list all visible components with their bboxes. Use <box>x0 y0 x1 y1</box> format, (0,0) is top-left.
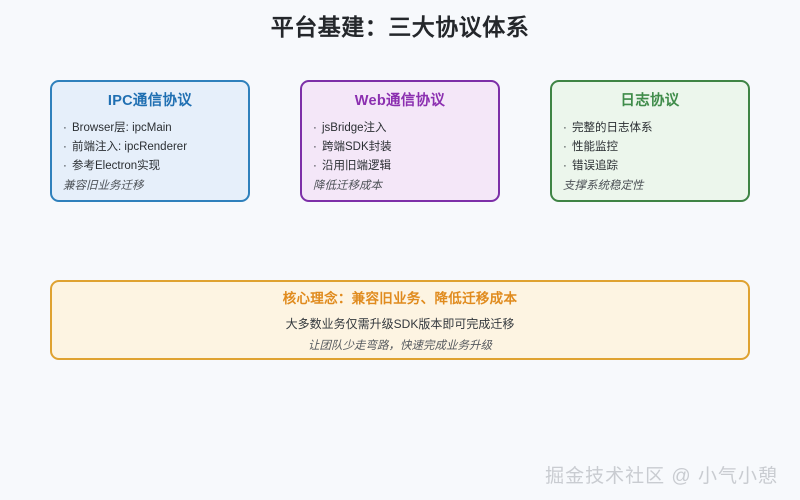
protocol-cards-row: IPC通信协议 ·Browser层: ipcMain ·前端注入: ipcRen… <box>50 80 750 202</box>
banner-body-text: 大多数业务仅需升级SDK版本即可完成迁移 <box>286 315 515 332</box>
card-title: 日志协议 <box>563 89 737 110</box>
core-concept-banner: 核心理念：兼容旧业务、降低迁移成本 大多数业务仅需升级SDK版本即可完成迁移 让… <box>50 280 750 360</box>
watermark: 掘金技术社区 @ 小气小憩 <box>545 461 778 488</box>
bullet-dot-icon: · <box>63 119 67 138</box>
bullet-dot-icon: · <box>63 157 67 176</box>
card-title: IPC通信协议 <box>63 89 237 110</box>
list-item-label: 沿用旧端逻辑 <box>322 160 391 172</box>
list-item-label: 跨端SDK封装 <box>322 141 392 153</box>
banner-heading: 核心理念：兼容旧业务、降低迁移成本 <box>283 287 518 307</box>
list-item-label: 完整的日志体系 <box>572 122 653 134</box>
list-item: ·跨端SDK封装 <box>313 138 487 157</box>
list-item: ·Browser层: ipcMain <box>63 119 237 138</box>
page-title: 平台基建：三大协议体系 <box>0 8 800 42</box>
card-note: 兼容旧业务迁移 <box>63 177 237 195</box>
list-item-label: Browser层: ipcMain <box>72 122 172 134</box>
bullet-dot-icon: · <box>313 157 317 176</box>
list-item: ·前端注入: ipcRenderer <box>63 138 237 157</box>
bullet-dot-icon: · <box>563 138 567 157</box>
list-item: ·性能监控 <box>563 138 737 157</box>
list-item-label: 前端注入: ipcRenderer <box>72 141 187 153</box>
list-item: ·沿用旧端逻辑 <box>313 157 487 176</box>
protocol-card-web: Web通信协议 ·jsBridge注入 ·跨端SDK封装 ·沿用旧端逻辑 降低迁… <box>300 80 500 202</box>
banner-sub-text: 让团队少走弯路，快速完成业务升级 <box>308 337 492 353</box>
card-title: Web通信协议 <box>313 89 487 110</box>
list-item-label: jsBridge注入 <box>322 122 387 134</box>
bullet-dot-icon: · <box>63 138 67 157</box>
list-item-label: 错误追踪 <box>572 160 618 172</box>
list-item-label: 性能监控 <box>572 141 618 153</box>
list-item-label: 参考Electron实现 <box>72 160 160 172</box>
bullet-dot-icon: · <box>313 119 317 138</box>
bullet-dot-icon: · <box>313 138 317 157</box>
list-item: ·错误追踪 <box>563 157 737 176</box>
card-bullet-list: ·jsBridge注入 ·跨端SDK封装 ·沿用旧端逻辑 <box>313 119 487 176</box>
bullet-dot-icon: · <box>563 119 567 138</box>
card-bullet-list: ·完整的日志体系 ·性能监控 ·错误追踪 <box>563 119 737 176</box>
card-note: 支撑系统稳定性 <box>563 177 737 195</box>
list-item: ·jsBridge注入 <box>313 119 487 138</box>
card-note: 降低迁移成本 <box>313 177 487 195</box>
list-item: ·完整的日志体系 <box>563 119 737 138</box>
protocol-card-log: 日志协议 ·完整的日志体系 ·性能监控 ·错误追踪 支撑系统稳定性 <box>550 80 750 202</box>
slide-canvas: 平台基建：三大协议体系 IPC通信协议 ·Browser层: ipcMain ·… <box>0 0 800 500</box>
protocol-card-ipc: IPC通信协议 ·Browser层: ipcMain ·前端注入: ipcRen… <box>50 80 250 202</box>
list-item: ·参考Electron实现 <box>63 157 237 176</box>
card-bullet-list: ·Browser层: ipcMain ·前端注入: ipcRenderer ·参… <box>63 119 237 176</box>
bullet-dot-icon: · <box>563 157 567 176</box>
